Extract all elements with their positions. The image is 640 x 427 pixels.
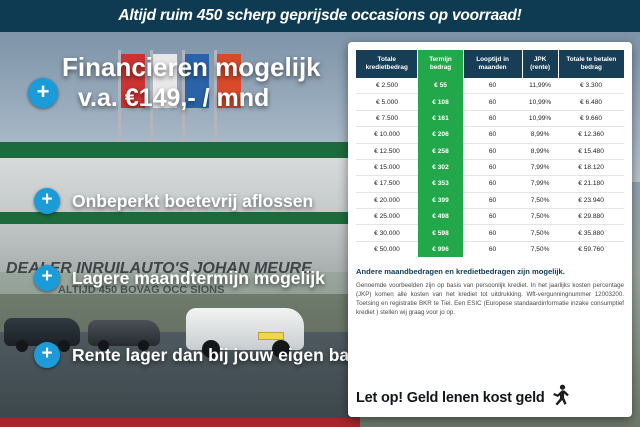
cell-duration: 60: [463, 209, 522, 225]
cell-term-amount: € 302: [418, 159, 463, 175]
table-row: € 30.000 € 598 60 7,50% € 35.880: [356, 225, 624, 241]
cell-total: € 9.660: [558, 110, 624, 126]
cell-duration: 60: [463, 159, 522, 175]
cell-duration: 60: [463, 78, 522, 94]
table-row: € 5.000 € 108 60 10,99% € 6.480: [356, 94, 624, 110]
warning-pedestrian-icon: [551, 384, 571, 411]
warning-row: Let op! Geld lenen kost geld: [356, 384, 624, 411]
rates-panel: Totale kredietbedrag Termijn bedrag Loop…: [348, 42, 632, 417]
bottom-red-stripe: [0, 418, 360, 427]
feature-bullet-2-label: Lagere maandtermijn mogelijk: [72, 268, 325, 289]
cell-total: € 3.300: [558, 78, 624, 94]
warning-text: Let op! Geld lenen kost geld: [356, 390, 545, 406]
cell-term-amount: € 353: [418, 176, 463, 192]
cell-apr: 8,99%: [522, 127, 558, 143]
cell-term-amount: € 161: [418, 110, 463, 126]
cell-apr: 7,50%: [522, 209, 558, 225]
cell-credit-amount: € 50.000: [356, 241, 418, 257]
table-header-cell-1: Termijn bedrag: [418, 50, 463, 78]
cell-total: € 23.940: [558, 192, 624, 208]
table-header-cell-3: JPK (rente): [522, 50, 558, 78]
cell-credit-amount: € 20.000: [356, 192, 418, 208]
cell-term-amount: € 399: [418, 192, 463, 208]
cell-total: € 35.880: [558, 225, 624, 241]
cell-total: € 6.480: [558, 94, 624, 110]
feature-bullet-3: + Rente lager dan bij jouw eigen bank: [34, 342, 370, 368]
table-header-cell-4: Totale te betalen bedrag: [558, 50, 624, 78]
cell-total: € 59.760: [558, 241, 624, 257]
cell-duration: 60: [463, 241, 522, 257]
parked-car-1-wheel-front: [16, 340, 28, 352]
cell-term-amount: € 55: [418, 78, 463, 94]
cell-credit-amount: € 25.000: [356, 209, 418, 225]
rates-table: Totale kredietbedrag Termijn bedrag Loop…: [356, 50, 624, 257]
cell-credit-amount: € 15.000: [356, 159, 418, 175]
table-row: € 15.000 € 302 60 7,99% € 18.120: [356, 159, 624, 175]
feature-bullet-2: + Lagere maandtermijn mogelijk: [34, 265, 325, 291]
cell-credit-amount: € 30.000: [356, 225, 418, 241]
hero-bullet: +: [28, 78, 58, 108]
cell-apr: 10,99%: [522, 94, 558, 110]
cell-total: € 12.360: [558, 127, 624, 143]
rates-table-body: € 2.500 € 55 60 11,99% € 3.300 € 5.000 €…: [356, 78, 624, 257]
cell-term-amount: € 598: [418, 225, 463, 241]
cell-duration: 60: [463, 225, 522, 241]
hero-headline: Financieren mogelijk: [62, 52, 321, 83]
cell-apr: 7,99%: [522, 176, 558, 192]
cell-term-amount: € 498: [418, 209, 463, 225]
plus-icon-1: +: [34, 188, 60, 214]
license-plate: [258, 332, 284, 340]
table-row: € 17.500 € 353 60 7,99% € 21.180: [356, 176, 624, 192]
building-roof-top: [0, 142, 360, 158]
banner-text: Altijd ruim 450 scherp geprijsde occasio…: [118, 7, 521, 25]
cell-total: € 21.180: [558, 176, 624, 192]
cell-duration: 60: [463, 94, 522, 110]
feature-bullet-1: + Onbeperkt boetevrij aflossen: [34, 188, 313, 214]
cell-total: € 29.880: [558, 209, 624, 225]
notes-body: Genoemde voorbeelden zijn op basis van p…: [356, 282, 624, 318]
cell-term-amount: € 258: [418, 143, 463, 159]
cell-duration: 60: [463, 176, 522, 192]
plus-icon-2: +: [34, 265, 60, 291]
cell-apr: 11,99%: [522, 78, 558, 94]
cell-apr: 7,50%: [522, 192, 558, 208]
hero-subheadline: v.a. €149,- / mnd: [78, 84, 269, 113]
table-row: € 20.000 € 399 60 7,50% € 23.940: [356, 192, 624, 208]
top-banner: Altijd ruim 450 scherp geprijsde occasio…: [0, 0, 640, 32]
feature-bullet-3-label: Rente lager dan bij jouw eigen bank: [72, 345, 370, 366]
table-row: € 25.000 € 498 60 7,50% € 29.880: [356, 209, 624, 225]
cell-apr: 7,99%: [522, 159, 558, 175]
cell-term-amount: € 996: [418, 241, 463, 257]
cell-apr: 7,50%: [522, 241, 558, 257]
table-row: € 2.500 € 55 60 11,99% € 3.300: [356, 78, 624, 94]
cell-credit-amount: € 5.000: [356, 94, 418, 110]
cell-credit-amount: € 2.500: [356, 78, 418, 94]
cell-term-amount: € 206: [418, 127, 463, 143]
table-header-cell-2: Looptijd in maanden: [463, 50, 522, 78]
cell-credit-amount: € 7.500: [356, 110, 418, 126]
cell-duration: 60: [463, 110, 522, 126]
cell-credit-amount: € 12.500: [356, 143, 418, 159]
cell-duration: 60: [463, 192, 522, 208]
table-row: € 12.500 € 258 60 8,99% € 15.480: [356, 143, 624, 159]
cell-total: € 18.120: [558, 159, 624, 175]
cell-term-amount: € 108: [418, 94, 463, 110]
notes-title: Andere maandbedragen en kredietbedragen …: [356, 267, 624, 277]
plus-icon-3: +: [34, 342, 60, 368]
cell-duration: 60: [463, 143, 522, 159]
cell-credit-amount: € 10.000: [356, 127, 418, 143]
cell-duration: 60: [463, 127, 522, 143]
cell-credit-amount: € 17.500: [356, 176, 418, 192]
feature-bullet-1-label: Onbeperkt boetevrij aflossen: [72, 191, 313, 212]
table-row: € 50.000 € 996 60 7,50% € 59.760: [356, 241, 624, 257]
cell-apr: 8,99%: [522, 143, 558, 159]
table-header-row: Totale kredietbedrag Termijn bedrag Loop…: [356, 50, 624, 78]
table-row: € 7.500 € 161 60 10,99% € 9.660: [356, 110, 624, 126]
cell-apr: 7,50%: [522, 225, 558, 241]
table-header-cell-0: Totale kredietbedrag: [356, 50, 418, 78]
cell-apr: 10,99%: [522, 110, 558, 126]
table-row: € 10.000 € 206 60 8,99% € 12.360: [356, 127, 624, 143]
plus-icon-hero: +: [28, 78, 58, 108]
cell-total: € 15.480: [558, 143, 624, 159]
